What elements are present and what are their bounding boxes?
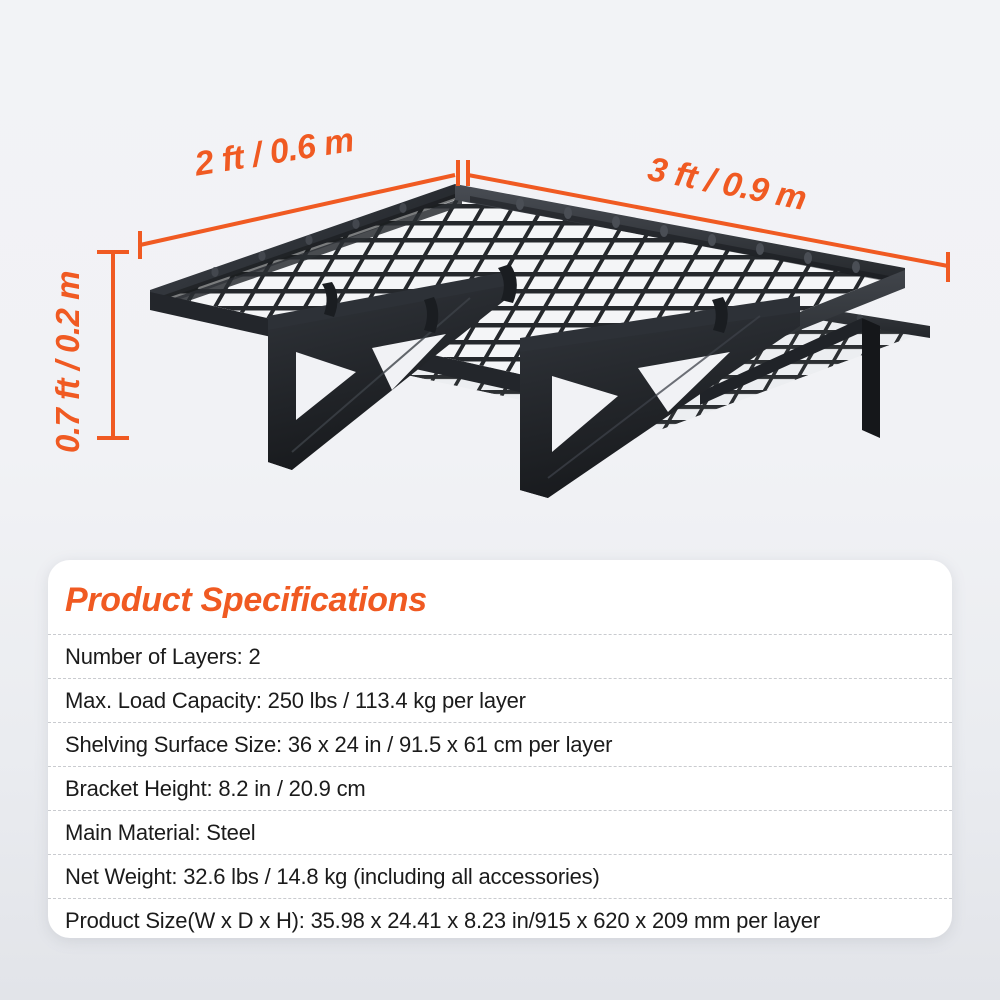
spec-row-text: Product Size(W x D x H): 35.98 x 24.41 x… [65, 908, 820, 934]
spec-row-surface-size: Shelving Surface Size: 36 x 24 in / 91.5… [48, 722, 952, 766]
spec-row-net-weight: Net Weight: 32.6 lbs / 14.8 kg (includin… [48, 854, 952, 898]
shelf-drawing [0, 0, 1000, 545]
spec-row-material: Main Material: Steel [48, 810, 952, 854]
product-illustration: 2 ft / 0.6 m 3 ft / 0.9 m 0.7 ft / 0.2 m [0, 0, 1000, 545]
product-specifications-card: Product Specifications Number of Layers:… [48, 560, 952, 938]
dimension-label-height: 0.7 ft / 0.2 m [49, 271, 87, 453]
spec-row-load-capacity: Max. Load Capacity: 250 lbs / 113.4 kg p… [48, 678, 952, 722]
spec-row-text: Main Material: Steel [65, 820, 255, 846]
spec-list: Number of Layers: 2 Max. Load Capacity: … [48, 634, 952, 938]
spec-row-bracket-height: Bracket Height: 8.2 in / 20.9 cm [48, 766, 952, 810]
spec-card-title: Product Specifications [48, 560, 952, 620]
spec-row-text: Net Weight: 32.6 lbs / 14.8 kg (includin… [65, 864, 600, 890]
spec-row-text: Bracket Height: 8.2 in / 20.9 cm [65, 776, 366, 802]
spec-row-text: Max. Load Capacity: 250 lbs / 113.4 kg p… [65, 688, 526, 714]
spec-row-layers: Number of Layers: 2 [48, 634, 952, 678]
spec-row-text: Shelving Surface Size: 36 x 24 in / 91.5… [65, 732, 612, 758]
spec-row-product-size: Product Size(W x D x H): 35.98 x 24.41 x… [48, 898, 952, 938]
spec-row-text: Number of Layers: 2 [65, 644, 261, 670]
